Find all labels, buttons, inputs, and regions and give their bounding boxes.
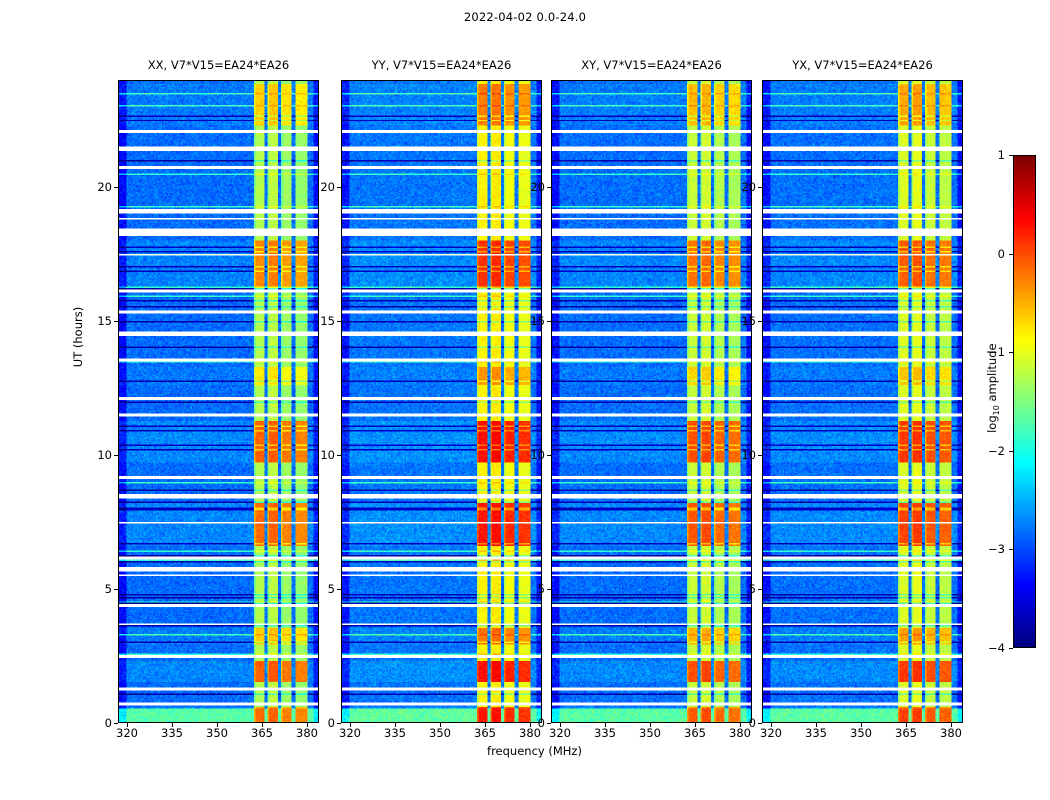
x-tick-label: 365 [684,726,706,740]
y-tick-label: 20 [305,180,335,194]
colorbar-label: log10 amplitude [985,313,1001,463]
figure-canvas: 2022-04-02 0.0-24.0 XX, V7*V15=EA24*EA26… [0,0,1050,800]
x-tick-label: 335 [161,726,183,740]
y-tick-labels-xx: 05101520 [82,80,112,723]
y-tick-mark [337,187,341,188]
y-tick-mark [758,589,762,590]
y-tick-label: 0 [515,716,545,730]
y-tick-label: 10 [515,448,545,462]
y-tick-mark [758,321,762,322]
y-tick-label: 5 [726,582,756,596]
colorbar-gradient [1014,156,1035,647]
x-tick-label: 335 [384,726,406,740]
panel-title-xx: XX, V7*V15=EA24*EA26 [118,58,319,76]
x-tick-label: 365 [474,726,496,740]
figure-suptitle: 2022-04-02 0.0-24.0 [0,10,1050,24]
x-tick-label: 365 [251,726,273,740]
x-tick-label: 335 [594,726,616,740]
y-tick-label: 0 [726,716,756,730]
colorbar [1013,155,1036,648]
waterfall-panel-yx [762,80,963,723]
waterfall-image-yy [342,81,541,722]
x-tick-label: 320 [339,726,361,740]
y-tick-mark [547,723,551,724]
panel-title-yy: YY, V7*V15=EA24*EA26 [341,58,542,76]
y-tick-mark [547,321,551,322]
y-tick-mark [337,723,341,724]
y-tick-label: 10 [305,448,335,462]
x-tick-label: 365 [895,726,917,740]
y-tick-label: 15 [305,314,335,328]
x-tick-label: 380 [940,726,962,740]
y-tick-mark [114,723,118,724]
x-tick-labels-xy: 320335350365380 [551,726,752,744]
colorbar-label-prefix: log [985,415,999,433]
y-tick-mark [114,187,118,188]
y-tick-mark [114,455,118,456]
y-tick-label: 0 [305,716,335,730]
y-tick-mark [114,589,118,590]
waterfall-image-xy [552,81,751,722]
waterfall-image-xx [119,81,318,722]
x-tick-labels-yx: 320335350365380 [762,726,963,744]
waterfall-panel-yy [341,80,542,723]
colorbar-label-subscript: 10 [992,405,1001,415]
y-tick-label: 15 [726,314,756,328]
y-tick-mark [758,187,762,188]
x-axis-label: frequency (MHz) [118,744,951,758]
y-tick-label: 15 [82,314,112,328]
x-tick-label: 320 [549,726,571,740]
waterfall-panel-xy [551,80,752,723]
y-axis-label: UT (hours) [71,247,85,427]
y-tick-label: 15 [515,314,545,328]
x-tick-label: 350 [850,726,872,740]
y-tick-mark [337,455,341,456]
y-tick-labels-yy: 05101520 [305,80,335,723]
x-tick-label: 350 [206,726,228,740]
x-tick-labels-yy: 320335350365380 [341,726,542,744]
colorbar-tick-label: 0 [960,247,1005,261]
y-tick-mark [547,589,551,590]
y-tick-label: 5 [515,582,545,596]
x-tick-label: 350 [429,726,451,740]
y-tick-label: 10 [726,448,756,462]
y-tick-mark [758,455,762,456]
colorbar-tick-label: −4 [960,641,1005,655]
y-tick-mark [337,589,341,590]
y-tick-label: 10 [82,448,112,462]
x-tick-label: 335 [805,726,827,740]
y-tick-mark [758,723,762,724]
colorbar-label-suffix: amplitude [985,343,999,405]
y-tick-label: 20 [515,180,545,194]
colorbar-tick-mark [1009,648,1013,649]
colorbar-tick-label: −3 [960,542,1005,556]
x-tick-label: 320 [760,726,782,740]
colorbar-tick-label: 1 [960,148,1005,162]
y-tick-labels-xy: 05101520 [515,80,545,723]
waterfall-image-yx [763,81,962,722]
panel-title-yx: YX, V7*V15=EA24*EA26 [762,58,963,76]
x-tick-labels-xx: 320335350365380 [118,726,319,744]
y-tick-label: 20 [82,180,112,194]
y-tick-mark [547,187,551,188]
y-tick-label: 0 [82,716,112,730]
panel-title-xy: XY, V7*V15=EA24*EA26 [551,58,752,76]
x-tick-label: 350 [639,726,661,740]
waterfall-panel-xx [118,80,319,723]
y-tick-mark [337,321,341,322]
y-tick-label: 5 [305,582,335,596]
y-tick-label: 20 [726,180,756,194]
y-tick-mark [114,321,118,322]
y-tick-label: 5 [82,582,112,596]
y-tick-labels-yx: 05101520 [726,80,756,723]
y-tick-mark [547,455,551,456]
x-tick-label: 320 [116,726,138,740]
